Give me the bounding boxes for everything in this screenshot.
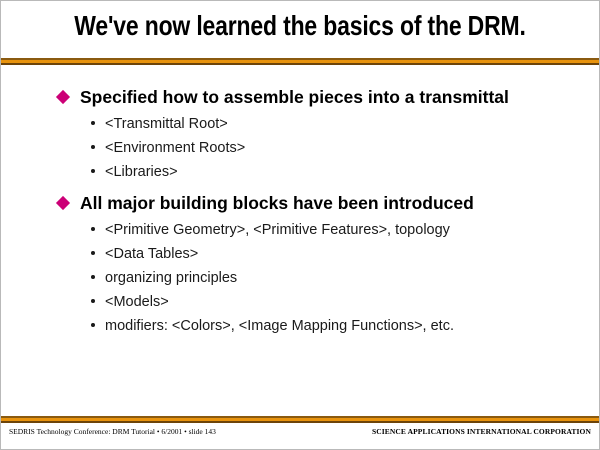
title-divider-rule [1,58,599,65]
round-bullet-icon [91,145,95,149]
level2-bullet-label: <Environment Roots> [105,140,575,156]
group-spacer [1,180,599,193]
level1-bullet-label: All major building blocks have been intr… [80,193,569,214]
level2-bullet-label: <Primitive Geometry>, <Primitive Feature… [105,222,575,238]
slide-body: Specified how to assemble pieces into a … [1,87,599,334]
rule-bottom-edge [1,421,599,423]
round-bullet-icon [91,169,95,173]
level2-bullet-label: <Models> [105,294,575,310]
level1-bullet-item: Specified how to assemble pieces into a … [1,87,599,108]
round-bullet-icon [91,275,95,279]
level2-bullet-label: <Data Tables> [105,246,575,262]
round-bullet-icon [91,227,95,231]
footer-source-text: SEDRIS Technology Conference: DRM Tutori… [9,427,216,437]
level2-bullet-label: <Transmittal Root> [105,116,575,132]
round-bullet-icon [91,323,95,327]
level2-bullet-label: organizing principles [105,270,575,286]
level2-bullet-item: <Environment Roots> [1,140,599,156]
level1-bullet-item: All major building blocks have been intr… [1,193,599,214]
level2-bullet-item: organizing principles [1,270,599,286]
level2-bullet-item: <Transmittal Root> [1,116,599,132]
page-title: We've now learned the basics of the DRM. [55,10,545,42]
level2-bullet-label: modifiers: <Colors>, <Image Mapping Func… [105,318,575,334]
level2-list: <Transmittal Root> <Environment Roots> <… [1,116,599,180]
bullet-group-1: Specified how to assemble pieces into a … [1,87,599,180]
round-bullet-icon [91,299,95,303]
level2-list: <Primitive Geometry>, <Primitive Feature… [1,222,599,334]
level2-bullet-label: <Libraries> [105,164,575,180]
bullet-group-2: All major building blocks have been intr… [1,193,599,334]
round-bullet-icon [91,121,95,125]
level2-bullet-item: <Models> [1,294,599,310]
level2-bullet-item: <Primitive Geometry>, <Primitive Feature… [1,222,599,238]
level1-bullet-label: Specified how to assemble pieces into a … [80,87,569,108]
footer-divider-rule [1,416,599,423]
level2-bullet-item: <Data Tables> [1,246,599,262]
slide-title-block: We've now learned the basics of the DRM. [1,10,599,42]
level2-bullet-item: modifiers: <Colors>, <Image Mapping Func… [1,318,599,334]
diamond-bullet-icon [56,196,70,210]
round-bullet-icon [91,251,95,255]
slide-footer: SEDRIS Technology Conference: DRM Tutori… [1,427,599,443]
footer-organization-text: SCIENCE APPLICATIONS INTERNATIONAL CORPO… [372,427,591,437]
rule-bottom-edge [1,63,599,65]
level2-bullet-item: <Libraries> [1,164,599,180]
diamond-bullet-icon [56,90,70,104]
slide-canvas: We've now learned the basics of the DRM.… [0,0,600,450]
